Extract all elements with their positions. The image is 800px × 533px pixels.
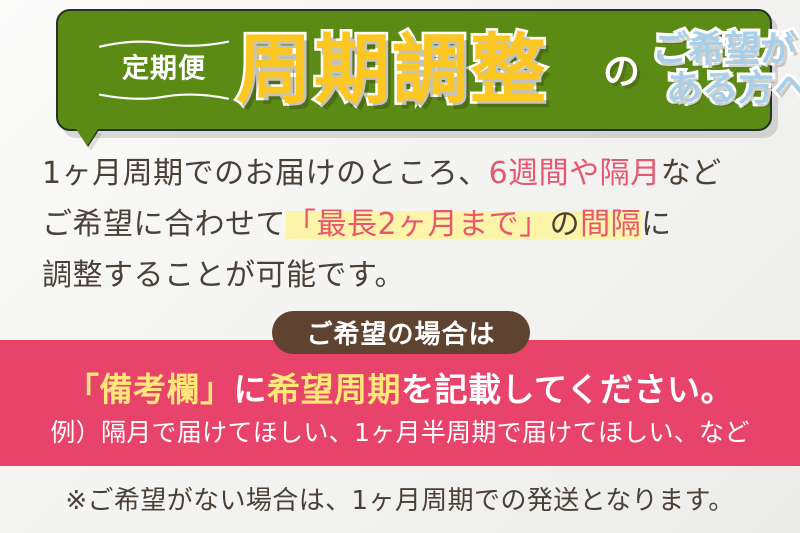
body-copy: 1ヶ月周期でのお届けのところ、6週間や隔月など ご希望に合わせて「最長2ヶ月まで…: [42, 148, 772, 301]
subscription-badge: 定期便: [94, 40, 234, 101]
body-line-2: ご希望に合わせて「最長2ヶ月まで」の間隔に: [42, 199, 772, 250]
body-line-2-part-b: 「最長2ヶ月まで」: [286, 207, 550, 242]
wave-line-top-icon: [98, 40, 230, 49]
footer-note: ※ご希望がない場合は、1ヶ月周期での発送となります。: [0, 480, 800, 517]
subscription-badge-label: 定期便: [94, 55, 234, 85]
body-line-1-part-b: 6週間や隔月: [489, 156, 661, 191]
instruction-headline-part-d: を記載してください。: [401, 370, 734, 409]
request-case-pill-label: ご希望の場合は: [306, 314, 495, 351]
instruction-example: 例）隔月で届けてほしい、1ヶ月半周期で届けてほしい、など: [0, 413, 800, 449]
promotional-banner: 定期便 周期調整 の ご希望が ある方へ 1ヶ月周期でのお届けのところ、6週間や…: [0, 0, 800, 533]
instruction-band: 「備考欄」に希望周期を記載してください。 例）隔月で届けてほしい、1ヶ月半周期で…: [0, 340, 800, 466]
instruction-headline-part-c: 希望周期: [267, 370, 401, 409]
speech-bubble-tail-icon: [76, 129, 98, 146]
headline-right-line2: ある方へ: [652, 70, 800, 109]
body-line-1-part-a: 1ヶ月周期でのお届けのところ、: [42, 156, 489, 191]
body-line-1-part-c: など: [661, 156, 722, 191]
body-line-2-part-c: の: [550, 207, 581, 242]
headline-particle: の: [603, 53, 640, 90]
body-line-1: 1ヶ月周期でのお届けのところ、6週間や隔月など: [42, 148, 772, 199]
body-line-2-part-e: に: [641, 207, 672, 242]
body-line-2-part-a: ご希望に合わせて: [42, 207, 286, 242]
instruction-headline-part-b: に: [233, 370, 267, 409]
headline-main: 周期調整: [236, 32, 548, 108]
wave-line-bottom-icon: [98, 91, 230, 100]
instruction-headline: 「備考欄」に希望周期を記載してください。: [0, 363, 800, 411]
headline-right-line1: ご希望が: [652, 31, 800, 70]
body-line-2-part-d: 間隔: [580, 207, 641, 242]
body-line-3: 調整することが可能です。: [42, 250, 772, 301]
headline-right-group: ご希望が ある方へ: [652, 31, 800, 109]
request-case-pill: ご希望の場合は: [272, 311, 530, 354]
header-banner: 定期便 周期調整 の ご希望が ある方へ: [56, 9, 772, 131]
instruction-headline-part-a: 「備考欄」: [66, 370, 234, 409]
